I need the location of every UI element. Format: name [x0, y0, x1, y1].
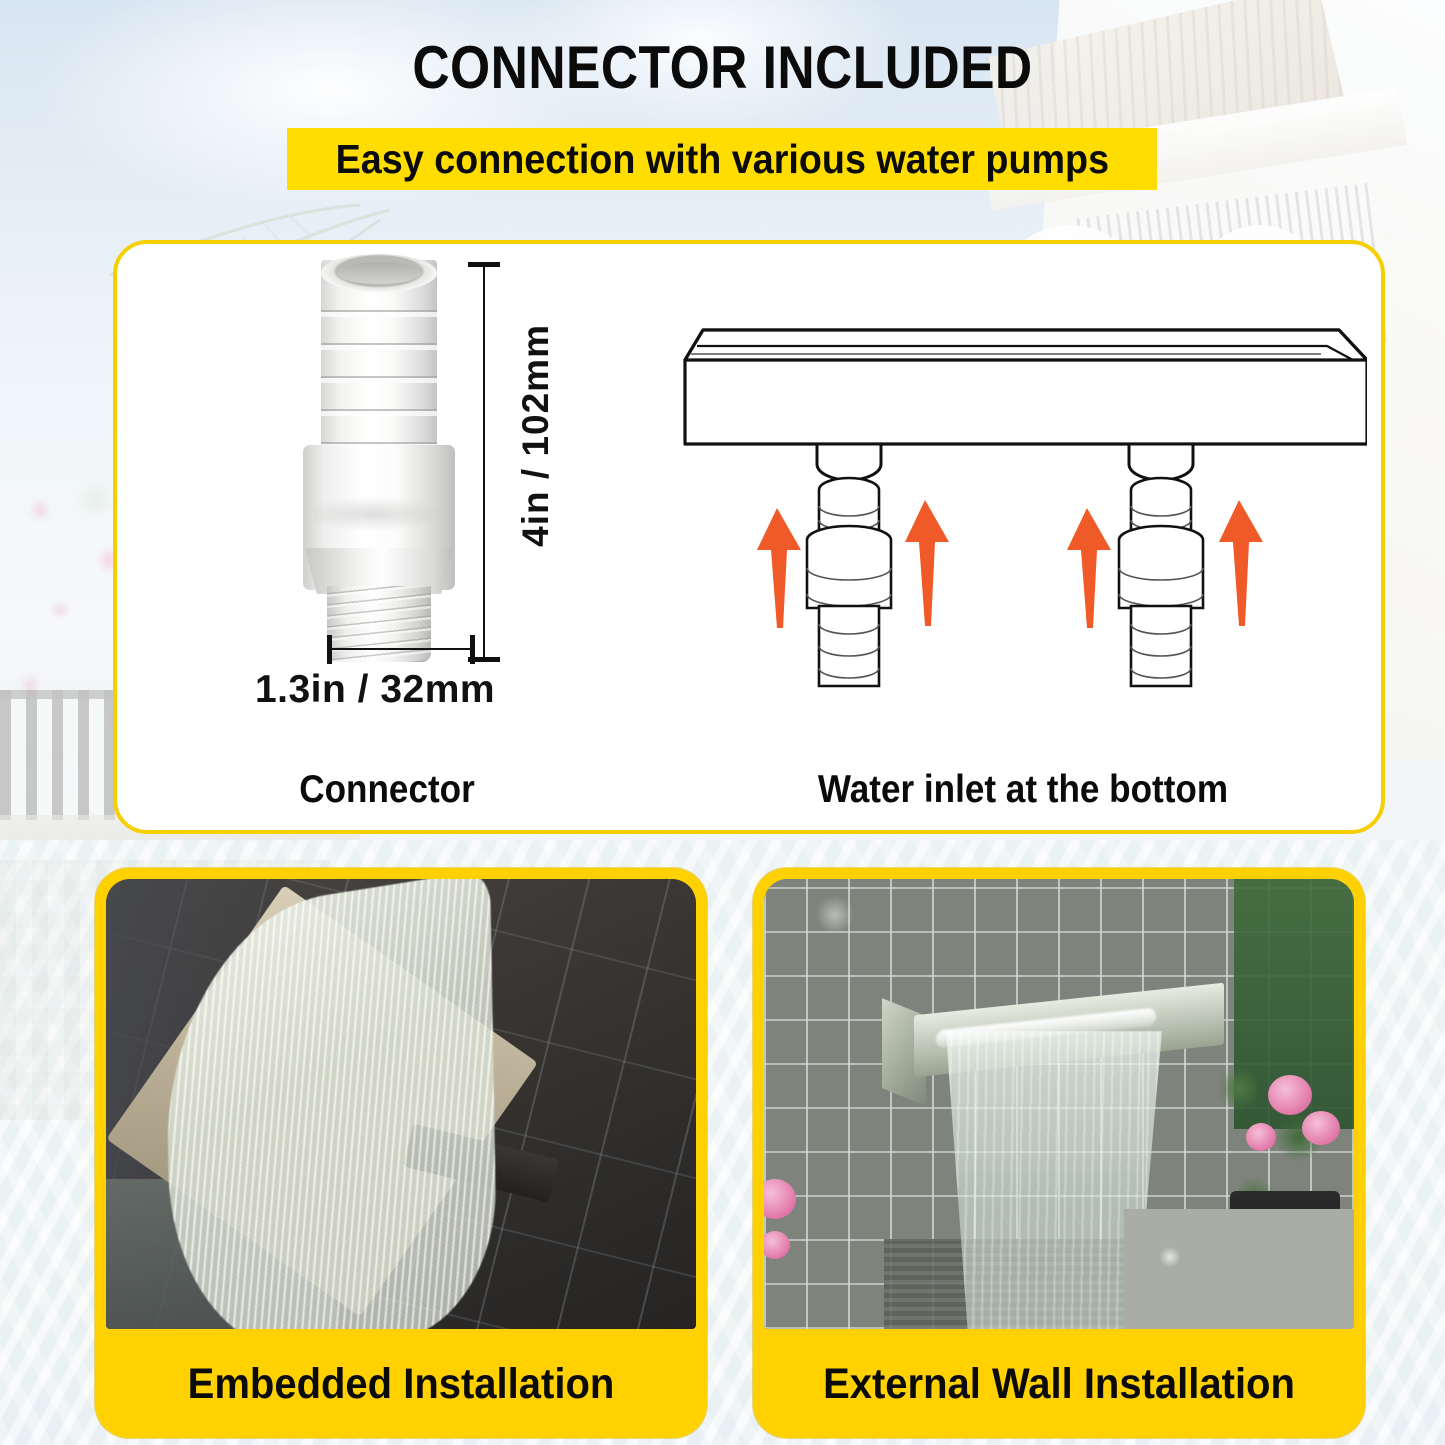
external-installation-photo: [764, 879, 1354, 1329]
rose-flower: [1268, 1075, 1312, 1115]
water-inlet-panel: Water inlet at the bottom: [657, 244, 1389, 838]
water-inlet-caption: Water inlet at the bottom: [694, 768, 1353, 812]
height-dimension-line: [483, 262, 485, 662]
gravel: [1124, 1209, 1354, 1329]
embedded-installation-photo: [106, 879, 696, 1329]
spillway-inlet-diagram: [667, 268, 1367, 688]
stone-wall: [106, 879, 696, 1329]
installation-card-external: External Wall Installation: [753, 868, 1365, 1438]
feature-card: 4in / 102mm 1.3in / 32mm Connector: [113, 240, 1385, 834]
subtitle-text: Easy connection with various water pumps: [335, 136, 1108, 183]
connector-panel: 4in / 102mm 1.3in / 32mm Connector: [117, 244, 657, 838]
height-dimension-label: 4in / 102mm: [515, 324, 557, 547]
embedded-installation-label: Embedded Installation: [116, 1330, 685, 1438]
external-installation-label: External Wall Installation: [774, 1330, 1343, 1438]
installation-card-embedded: Embedded Installation: [95, 868, 707, 1438]
subtitle-banner: Easy connection with various water pumps: [287, 128, 1157, 190]
rose-flower: [1246, 1123, 1276, 1151]
connector-threaded-end: [327, 586, 431, 662]
connector-product-image: [299, 260, 459, 660]
connector-opening: [321, 254, 437, 292]
gabion-wall: [764, 879, 1354, 1329]
rose-flower: [1302, 1111, 1340, 1145]
width-dimension-line: [327, 648, 475, 650]
page-title: CONNECTOR INCLUDED: [101, 33, 1344, 102]
width-dimension-label: 1.3in / 32mm: [135, 668, 615, 712]
connector-caption: Connector: [144, 768, 630, 812]
